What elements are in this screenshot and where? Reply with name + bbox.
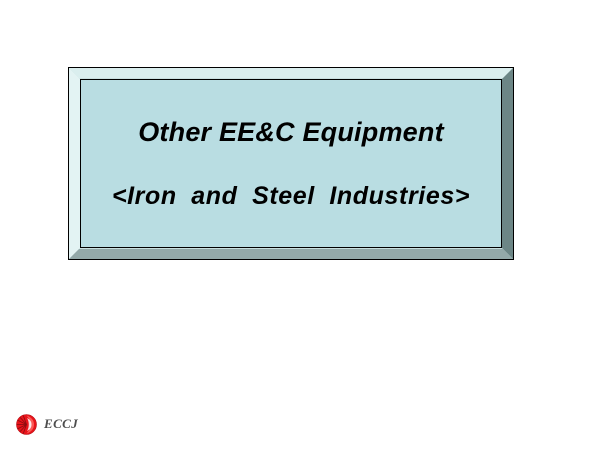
page-subtitle: <Iron and Steel Industries>: [112, 182, 470, 211]
bevel-face-top: [69, 68, 513, 78]
page-title: Other EE&C Equipment: [138, 117, 444, 148]
eccj-logo-text: ECCJ: [44, 416, 78, 432]
bevel-face-left: [69, 68, 80, 259]
title-box-face: Other EE&C Equipment <Iron and Steel Ind…: [80, 79, 502, 248]
slide-canvas: Other EE&C Equipment <Iron and Steel Ind…: [0, 0, 600, 450]
title-box: Other EE&C Equipment <Iron and Steel Ind…: [68, 67, 514, 260]
bevel-face-bottom: [69, 249, 513, 259]
eccj-logo: ECCJ: [16, 412, 78, 436]
eccj-flame-circle-icon: [16, 414, 37, 435]
bevel-face-right: [502, 68, 513, 259]
